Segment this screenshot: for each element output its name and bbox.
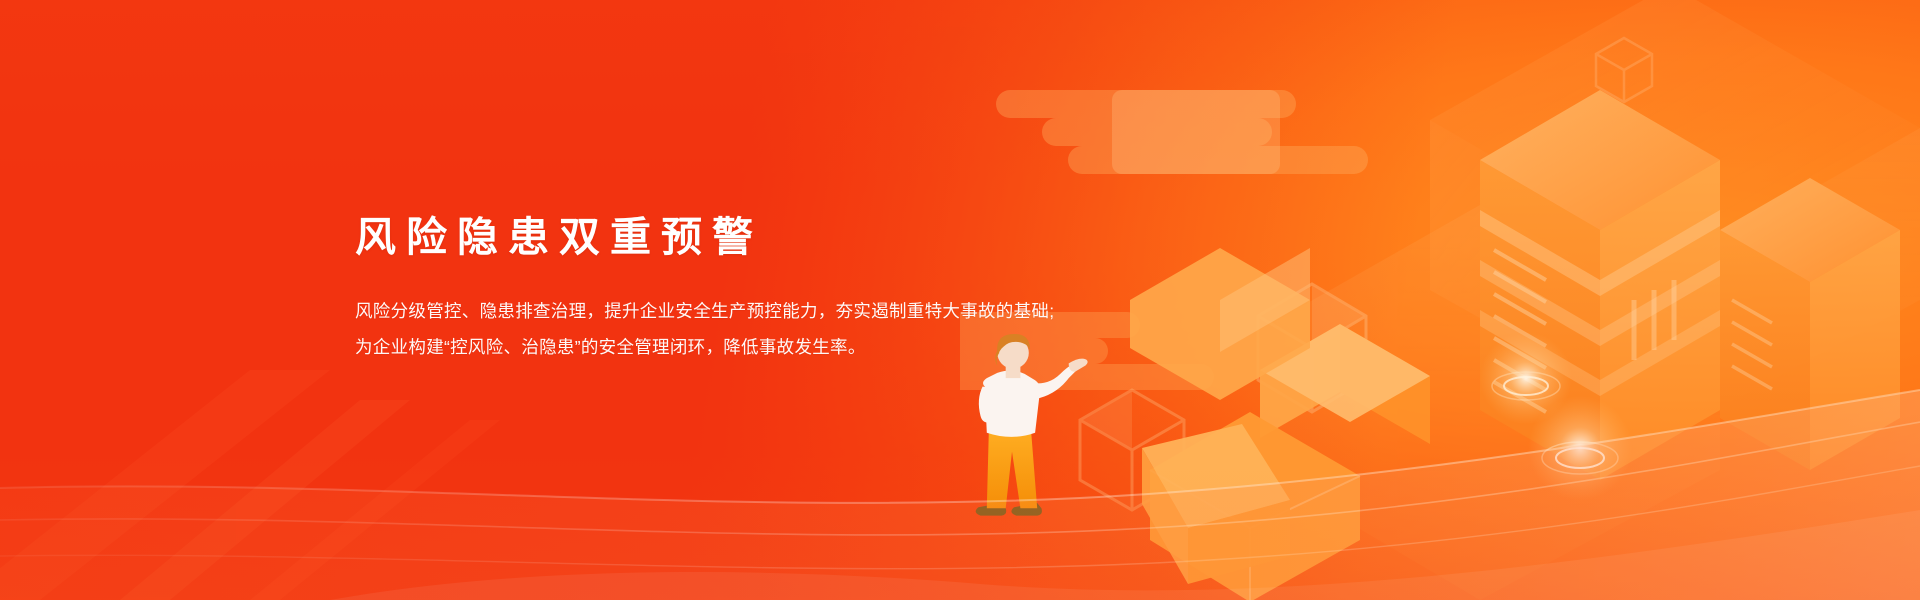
- page-title: 风险隐患双重预警: [355, 212, 1195, 263]
- subtitle-line-1: 风险分级管控、隐患排查治理，提升企业安全生产预控能力，夯实遏制重特大事故的基础;: [355, 293, 1195, 329]
- banner-copy: 风险隐患双重预警 风险分级管控、隐患排查治理，提升企业安全生产预控能力，夯实遏制…: [355, 212, 1195, 365]
- subtitle-line-2: 为企业构建“控风险、治隐患”的安全管理闭环，降低事故发生率。: [355, 329, 1195, 365]
- hero-banner: 风险隐患双重预警 风险分级管控、隐患排查治理，提升企业安全生产预控能力，夯实遏制…: [0, 0, 1920, 600]
- banner-subtitle: 风险分级管控、隐患排查治理，提升企业安全生产预控能力，夯实遏制重特大事故的基础;…: [355, 293, 1195, 365]
